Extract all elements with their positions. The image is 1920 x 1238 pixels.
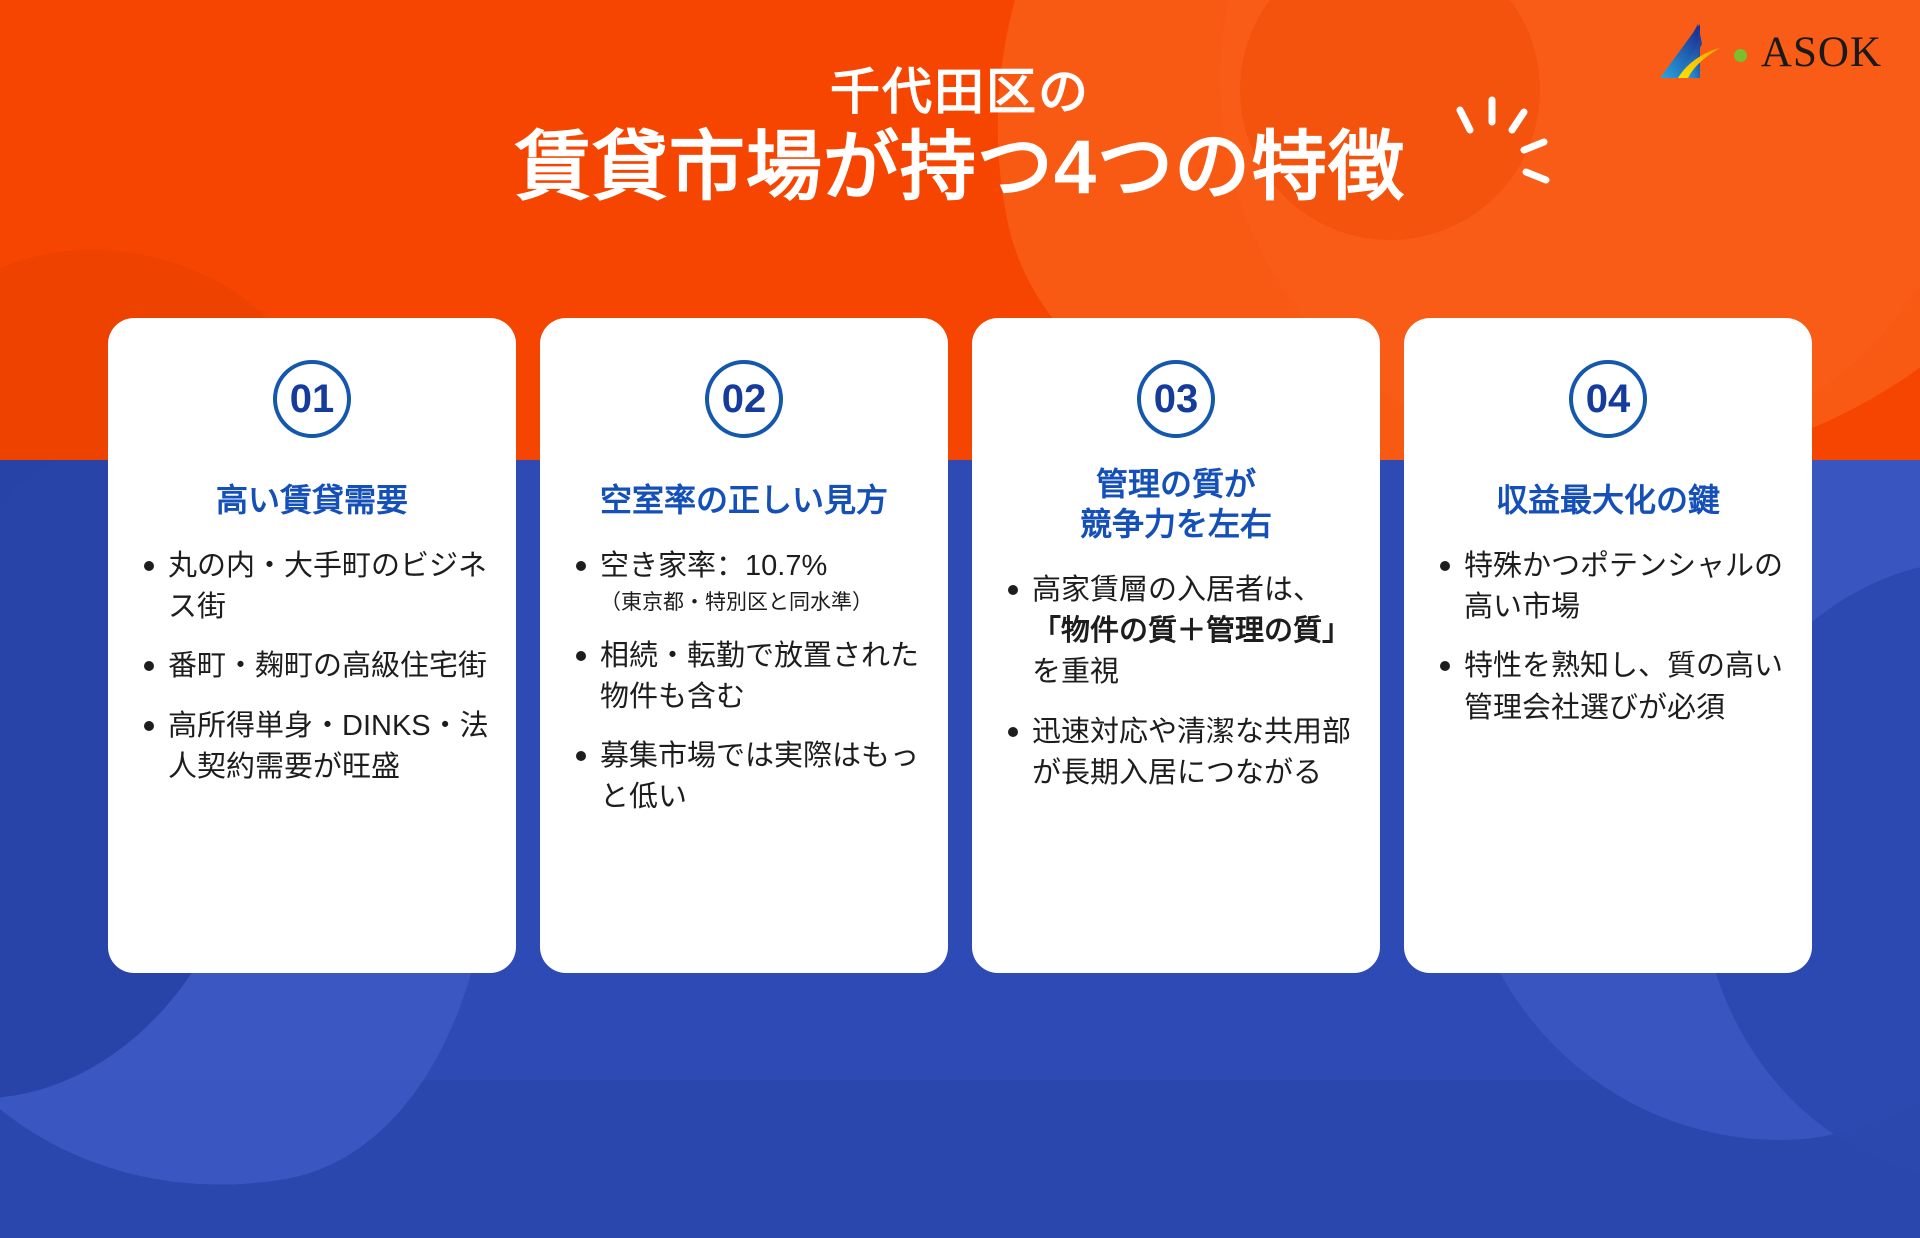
card-title: 管理の質が競争力を左右 <box>998 464 1354 544</box>
slide-title: 千代田区の 賃貸市場が持つ4つの特徴 <box>0 66 1920 212</box>
bullet-text-emphasis: 「物件の質＋管理の質」 <box>1032 615 1351 647</box>
list-item: 高所得単身・DINKS・法人契約需要が旺盛 <box>144 706 490 788</box>
list-item: 迅速対応や清潔な共用部が長期入居につながる <box>1008 712 1354 794</box>
list-item: 特性を熟知し、質の高い管理会社選びが必須 <box>1440 646 1786 728</box>
bullet-dot-icon <box>144 661 154 671</box>
title-subline: 千代田区の <box>0 66 1920 119</box>
bullet-text: 特性を熟知し、質の高い管理会社選びが必須 <box>1464 646 1786 728</box>
card-title: 空室率の正しい見方 <box>566 480 922 520</box>
bullet-text: 募集市場では実際はもっと低い <box>600 736 922 818</box>
feature-card-01[interactable]: 01 高い賃貸需要 丸の内・大手町のビジネス街 番町・麹町の高級住宅街 高所得単… <box>108 318 516 973</box>
bullet-text-pre: 高家賃層の入居者は、 <box>1032 574 1322 606</box>
bullet-dot-icon <box>144 561 154 571</box>
bullet-dot-icon <box>576 561 586 571</box>
bullet-text: 番町・麹町の高級住宅街 <box>168 646 487 687</box>
bullet-text: 丸の内・大手町のビジネス街 <box>168 546 490 628</box>
bullet-text: 相続・転勤で放置された物件も含む <box>600 636 922 718</box>
bullet-dot-icon <box>1008 585 1018 595</box>
bullet-text-post: を重視 <box>1032 656 1119 688</box>
logo-green-dot <box>1734 49 1747 62</box>
card-number-badge: 02 <box>705 360 783 438</box>
bullet-text: 特殊かつポテンシャルの高い市場 <box>1464 546 1786 628</box>
list-item: 高家賃層の入居者は、「物件の質＋管理の質」を重視 <box>1008 570 1354 694</box>
bullet-subnote: （東京都・特別区と同水準） <box>600 589 873 617</box>
list-item: 番町・麹町の高級住宅街 <box>144 646 490 687</box>
feature-card-02[interactable]: 02 空室率の正しい見方 空き家率：10.7% （東京都・特別区と同水準） 相続… <box>540 318 948 973</box>
feature-card-list: 01 高い賃貸需要 丸の内・大手町のビジネス街 番町・麹町の高級住宅街 高所得単… <box>0 318 1920 978</box>
bullet-text: 迅速対応や清潔な共用部が長期入居につながる <box>1032 712 1354 794</box>
list-item: 空き家率：10.7% （東京都・特別区と同水準） <box>576 546 922 618</box>
card-number: 02 <box>722 377 767 422</box>
bullet-text: 高所得単身・DINKS・法人契約需要が旺盛 <box>168 706 490 788</box>
card-number: 01 <box>290 377 335 422</box>
bullet-dot-icon <box>1440 561 1450 571</box>
card-title: 高い賃貸需要 <box>134 480 490 520</box>
bullet-dot-icon <box>576 751 586 761</box>
list-item: 募集市場では実際はもっと低い <box>576 736 922 818</box>
bullet-dot-icon <box>1440 661 1450 671</box>
card-number-badge: 01 <box>273 360 351 438</box>
list-item: 相続・転勤で放置された物件も含む <box>576 636 922 718</box>
card-bullet-list: 丸の内・大手町のビジネス街 番町・麹町の高級住宅街 高所得単身・DINKS・法人… <box>134 546 490 788</box>
card-bullet-list: 特殊かつポテンシャルの高い市場 特性を熟知し、質の高い管理会社選びが必須 <box>1430 546 1786 729</box>
bullet-text: 空き家率：10.7% <box>600 546 873 587</box>
title-mainline: 賃貸市場が持つ4つの特徴 <box>0 123 1920 213</box>
feature-card-04[interactable]: 04 収益最大化の鍵 特殊かつポテンシャルの高い市場 特性を熟知し、質の高い管理… <box>1404 318 1812 973</box>
sparkle-icon <box>1432 96 1552 216</box>
card-number: 04 <box>1586 377 1631 422</box>
slide-canvas: ASOK 千代田区の 賃貸市場が持つ4つの特徴 01 高い賃貸需要 丸の内・大手… <box>0 0 1920 1080</box>
bullet-body: 空き家率：10.7% （東京都・特別区と同水準） <box>600 546 873 618</box>
bullet-dot-icon <box>576 651 586 661</box>
list-item: 丸の内・大手町のビジネス街 <box>144 546 490 628</box>
card-bullet-list: 空き家率：10.7% （東京都・特別区と同水準） 相続・転勤で放置された物件も含… <box>566 546 922 818</box>
bullet-text: 高家賃層の入居者は、「物件の質＋管理の質」を重視 <box>1032 570 1354 694</box>
card-number-badge: 03 <box>1137 360 1215 438</box>
card-number: 03 <box>1154 377 1199 422</box>
feature-card-03[interactable]: 03 管理の質が競争力を左右 高家賃層の入居者は、「物件の質＋管理の質」を重視 … <box>972 318 1380 973</box>
card-bullet-list: 高家賃層の入居者は、「物件の質＋管理の質」を重視 迅速対応や清潔な共用部が長期入… <box>998 570 1354 794</box>
bullet-dot-icon <box>1008 727 1018 737</box>
list-item: 特殊かつポテンシャルの高い市場 <box>1440 546 1786 628</box>
bullet-dot-icon <box>144 721 154 731</box>
card-title: 収益最大化の鍵 <box>1430 480 1786 520</box>
card-number-badge: 04 <box>1569 360 1647 438</box>
